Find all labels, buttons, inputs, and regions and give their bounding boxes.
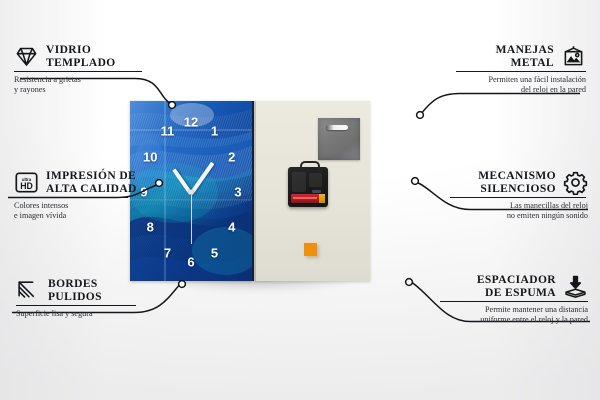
- metal-hanger-plate: [318, 118, 360, 160]
- callout-manejas-metal[interactable]: MANEJAS METAL Permiten una fácil instala…: [400, 44, 586, 95]
- callout-rule: [456, 71, 586, 72]
- callout-bordes-pulidos[interactable]: BORDES PULIDOS Superficie lisa y segura: [16, 278, 206, 319]
- callout-mecanismo-silencioso[interactable]: MECANISMO SILENCIOSO Las manecillas del …: [398, 170, 588, 221]
- back-panel-edge: [254, 101, 256, 281]
- callout-subtitle: Permite mantener una distancia uniforme …: [394, 305, 588, 325]
- callout-rule: [450, 197, 586, 198]
- picture-frame-hanger-icon: [561, 44, 586, 69]
- clock-back-panel: [254, 101, 370, 281]
- mechanism-detail: [292, 172, 306, 192]
- gear-icon: [563, 170, 588, 195]
- callout-header: ESPACIADOR DE ESPUMA: [394, 274, 588, 299]
- infographic-stage: 121234567891011: [0, 0, 600, 400]
- callout-subtitle: Resistencia a grietas y rayones: [14, 75, 200, 95]
- diamond-icon: [14, 44, 39, 69]
- callout-header: MANEJAS METAL: [400, 44, 586, 69]
- battery: [291, 194, 325, 203]
- callout-header: MECANISMO SILENCIOSO: [398, 170, 588, 195]
- callout-impresion-alta-calidad[interactable]: ultra HD IMPRESIÓN DE ALTA CALIDAD Color…: [14, 170, 204, 221]
- clock-numeral-8: 8: [147, 221, 154, 234]
- clock-numeral-7: 7: [164, 246, 171, 259]
- hanger-slot: [326, 125, 348, 130]
- callout-title: IMPRESIÓN DE ALTA CALIDAD: [46, 170, 137, 195]
- foam-spacer: [304, 243, 317, 256]
- mechanism-detail: [312, 190, 321, 193]
- callout-header: ultra HD IMPRESIÓN DE ALTA CALIDAD: [14, 170, 204, 195]
- clock-numeral-2: 2: [228, 151, 235, 164]
- callout-rule: [440, 301, 588, 302]
- arrow-down-pad-icon: [563, 274, 588, 299]
- clock-numeral-5: 5: [211, 246, 218, 259]
- callout-rule: [16, 305, 136, 306]
- callout-rule: [14, 71, 142, 72]
- callout-rule: [14, 197, 128, 198]
- callout-title: VIDRIO TEMPLADO: [46, 44, 116, 69]
- ultra-hd-icon-main-text: HD: [20, 181, 33, 191]
- callout-vidrio-templado[interactable]: VIDRIO TEMPLADO Resistencia a grietas y …: [14, 44, 200, 95]
- callout-subtitle: Superficie lisa y segura: [16, 309, 206, 319]
- battery-stripe: [293, 197, 317, 199]
- callout-subtitle: Las manecillas del reloj no emiten ningú…: [398, 201, 588, 221]
- callout-title: MECANISMO SILENCIOSO: [398, 170, 556, 195]
- callout-header: VIDRIO TEMPLADO: [14, 44, 200, 69]
- battery-terminal: [319, 194, 325, 203]
- diagonal-lines-icon: [16, 278, 41, 303]
- clock-mechanism: [288, 167, 328, 207]
- callout-espaciador-espuma[interactable]: ESPACIADOR DE ESPUMA Permite mantener un…: [394, 274, 588, 325]
- clock-numeral-4: 4: [228, 221, 235, 234]
- mechanism-detail: [309, 173, 322, 187]
- callout-subtitle: Colores intensos e imagen vívida: [14, 201, 204, 221]
- mechanism-loop: [300, 161, 320, 172]
- ultra-hd-icon: ultra HD: [14, 170, 39, 195]
- callout-title: ESPACIADOR DE ESPUMA: [394, 274, 556, 299]
- callout-title: BORDES PULIDOS: [48, 278, 102, 303]
- clock-numeral-3: 3: [234, 186, 241, 199]
- callout-title: MANEJAS METAL: [400, 44, 554, 69]
- clock-numeral-12: 12: [184, 116, 198, 129]
- clock-numeral-11: 11: [161, 125, 175, 138]
- clock-numeral-1: 1: [211, 125, 218, 138]
- callout-header: BORDES PULIDOS: [16, 278, 206, 303]
- clock-numeral-6: 6: [187, 256, 194, 269]
- clock-numeral-10: 10: [143, 151, 157, 164]
- callout-subtitle: Permiten una fácil instalación del reloj…: [400, 75, 586, 95]
